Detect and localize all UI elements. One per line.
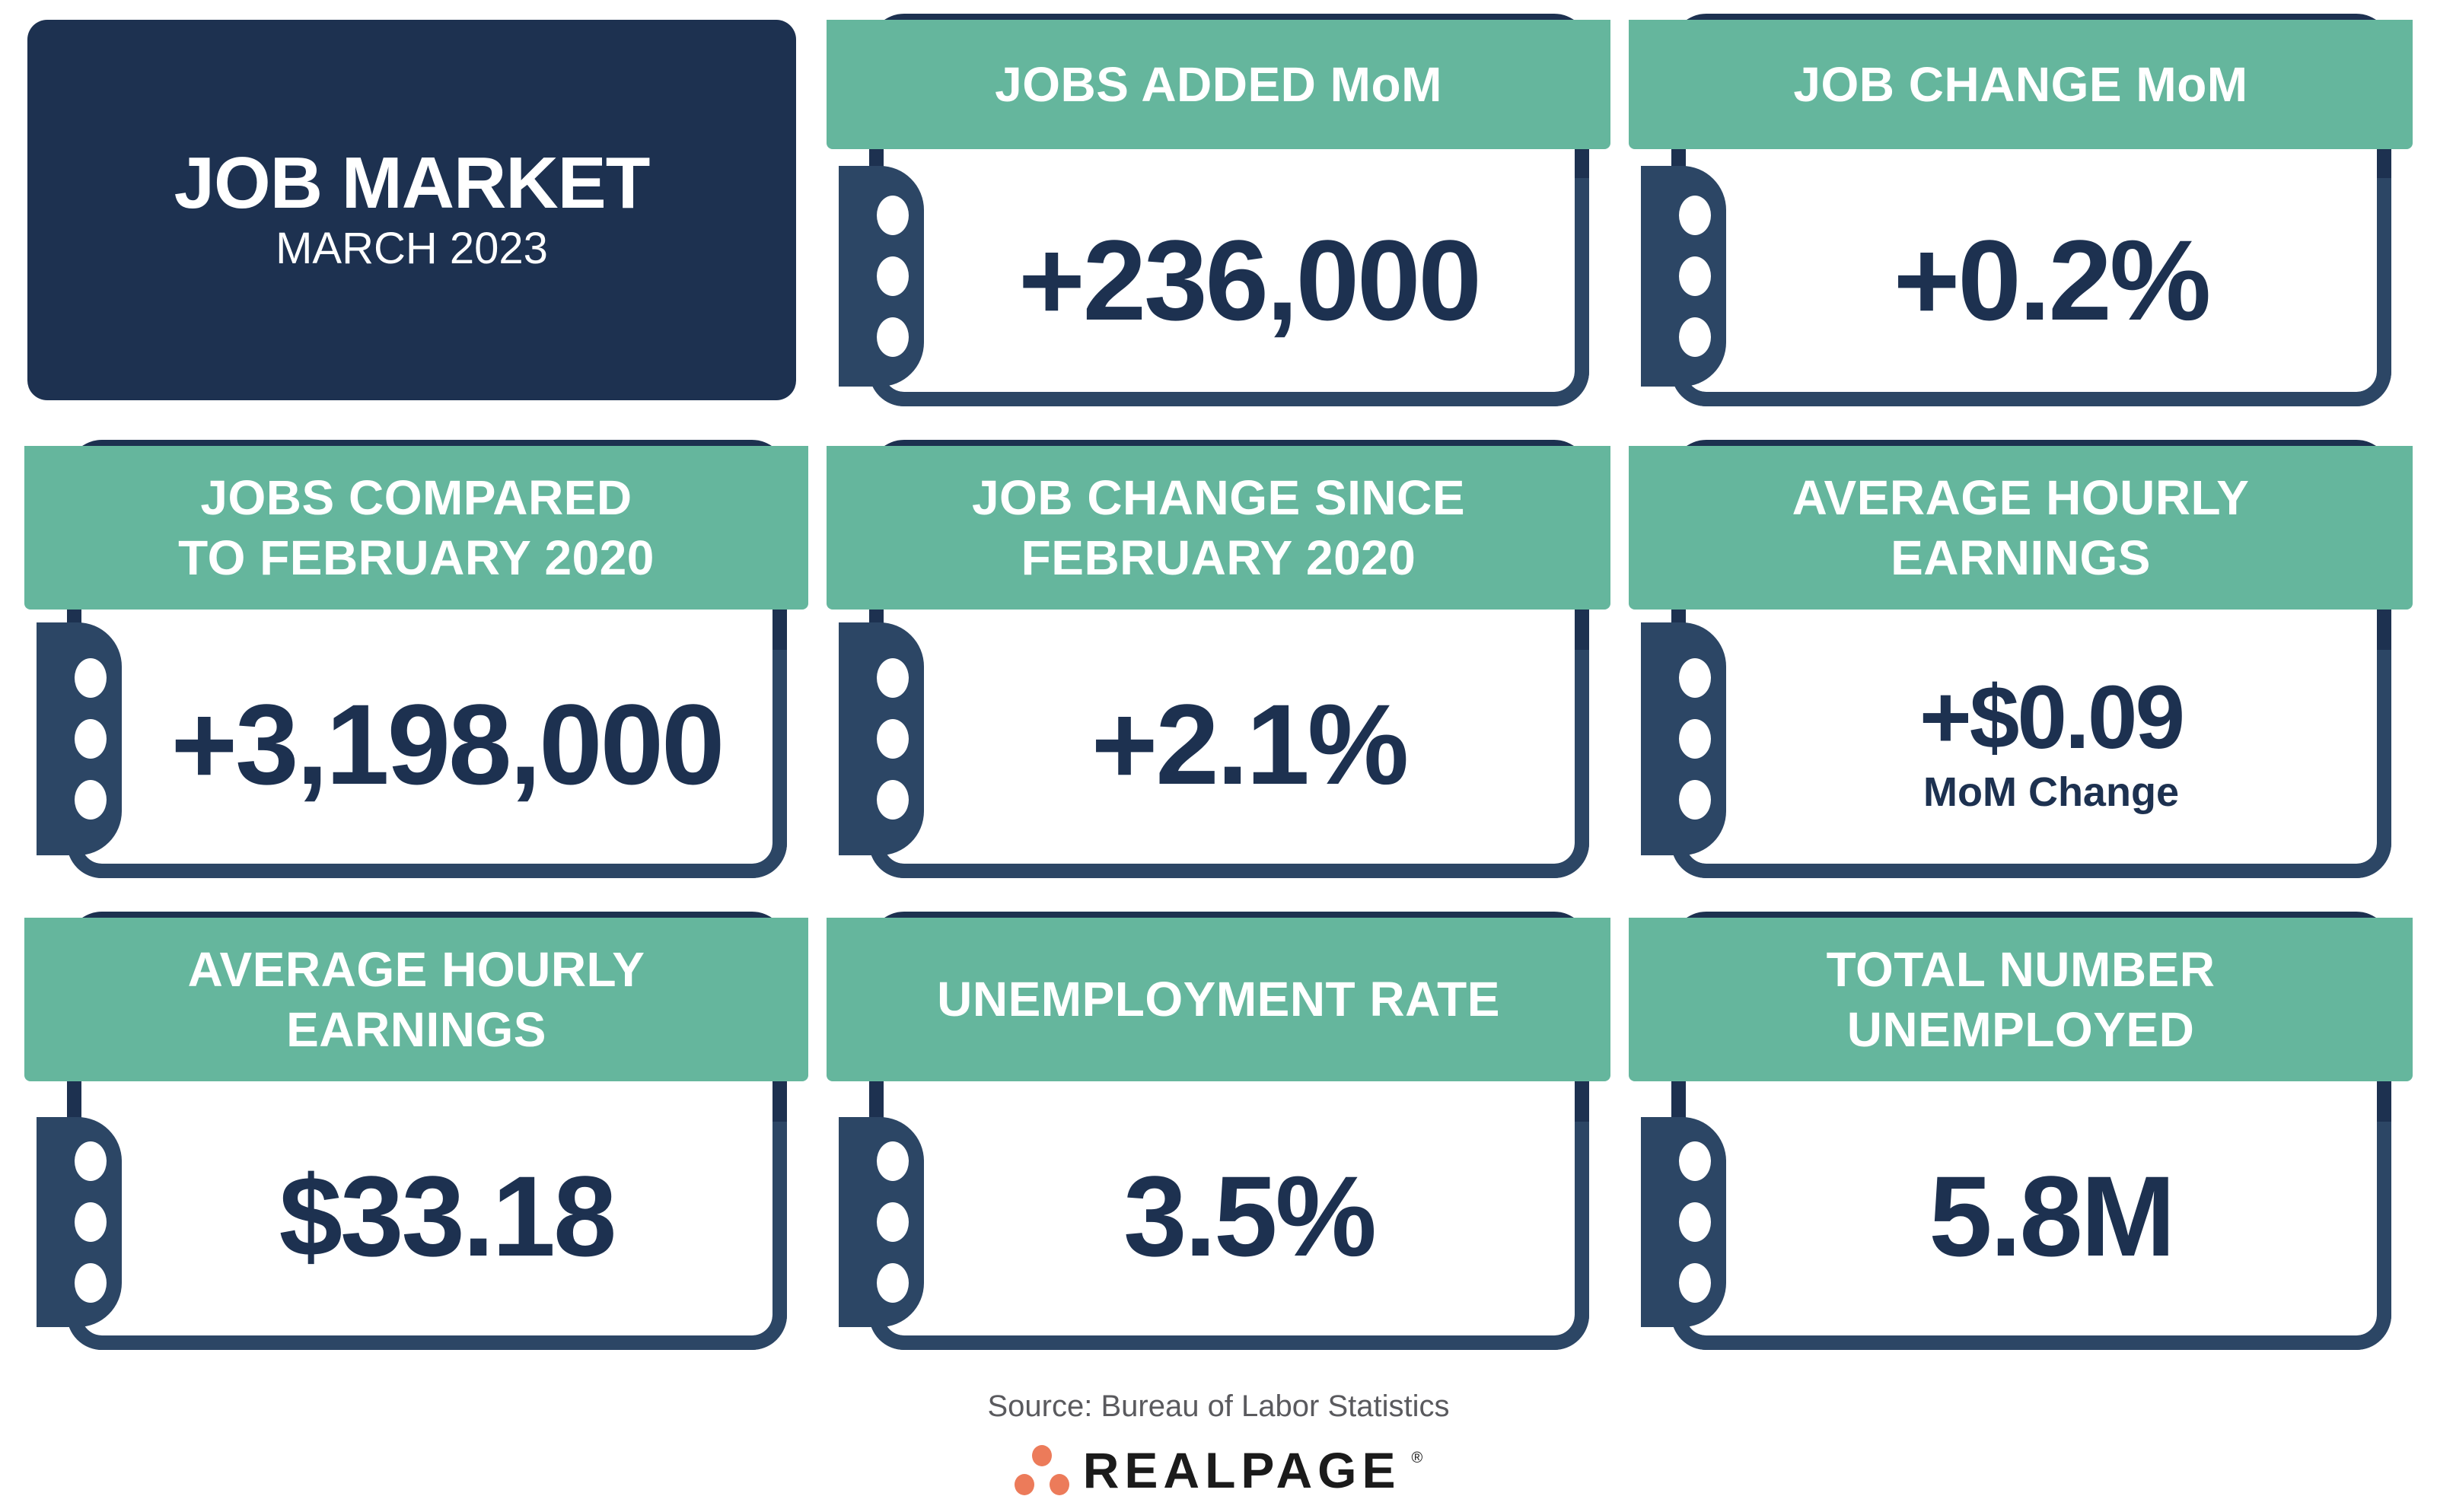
card-value: 3.5% bbox=[1123, 1159, 1375, 1273]
card-header-banner: AVERAGE HOURLY EARNINGS bbox=[24, 918, 808, 1081]
spine-dot-icon bbox=[75, 1263, 107, 1303]
spine-dot-icon bbox=[877, 256, 909, 296]
card-value: +3,198,000 bbox=[171, 687, 723, 801]
card-value-area: +236,000 bbox=[933, 173, 1565, 387]
stat-card-unemployment-rate: UNEMPLOYMENT RATE 3.5% bbox=[827, 904, 1610, 1361]
card-header-banner: JOB CHANGE MoM bbox=[1629, 20, 2413, 149]
card-spine bbox=[1641, 166, 1726, 387]
stat-card-jobs-compared-to-february-2020: JOBS COMPARED TO FEBRUARY 2020 +3,198,00… bbox=[24, 432, 808, 889]
spine-dot-icon bbox=[75, 719, 107, 759]
card-value-area: +2.1% bbox=[933, 630, 1565, 858]
spine-dot-icon bbox=[877, 780, 909, 820]
page-subtitle: MARCH 2023 bbox=[276, 224, 548, 275]
spine-dot-icon bbox=[1679, 1263, 1711, 1303]
card-subvalue: MoM Change bbox=[1923, 770, 2179, 815]
stat-card-job-change-mom: JOB CHANGE MoM +0.2% bbox=[1629, 6, 2413, 417]
card-header-banner: JOBS ADDED MoM bbox=[827, 20, 1610, 149]
card-spine bbox=[37, 622, 122, 855]
spine-dot-icon bbox=[877, 658, 909, 698]
card-header-banner: JOBS COMPARED TO FEBRUARY 2020 bbox=[24, 446, 808, 610]
card-value-area: +0.2% bbox=[1735, 173, 2367, 387]
spine-dot-icon bbox=[877, 317, 909, 357]
spine-dot-icon bbox=[1679, 256, 1711, 296]
card-value-area: +$0.09 MoM Change bbox=[1735, 630, 2367, 858]
card-header-label: JOB CHANGE MoM bbox=[1793, 55, 2247, 114]
realpage-logo: REALPAGE ® bbox=[1015, 1445, 1423, 1495]
realpage-dots-icon bbox=[1015, 1445, 1069, 1495]
spine-dot-icon bbox=[1679, 658, 1711, 698]
card-header-banner: AVERAGE HOURLY EARNINGS bbox=[1629, 446, 2413, 610]
card-value: +236,000 bbox=[1018, 223, 1480, 337]
card-value: +0.2% bbox=[1894, 223, 2209, 337]
card-value-area: +3,198,000 bbox=[131, 630, 763, 858]
stat-card-average-hourly-earnings-mom-change: AVERAGE HOURLY EARNINGS +$0.09 MoM Chang… bbox=[1629, 432, 2413, 889]
stat-card-total-number-unemployed: TOTAL NUMBER UNEMPLOYED 5.8M bbox=[1629, 904, 2413, 1361]
spine-dot-icon bbox=[877, 196, 909, 235]
spine-dot-icon bbox=[877, 1202, 909, 1242]
card-header-banner: UNEMPLOYMENT RATE bbox=[827, 918, 1610, 1081]
spine-dot-icon bbox=[75, 658, 107, 698]
spine-dot-icon bbox=[1679, 317, 1711, 357]
spine-dot-icon bbox=[877, 719, 909, 759]
card-header-label: JOBS ADDED MoM bbox=[995, 55, 1442, 114]
card-spine bbox=[839, 622, 924, 855]
spine-dot-icon bbox=[1679, 780, 1711, 820]
card-spine bbox=[839, 166, 924, 387]
footer: Source: Bureau of Labor Statistics REALP… bbox=[0, 1389, 2437, 1495]
card-header-label: TOTAL NUMBER UNEMPLOYED bbox=[1827, 940, 2216, 1058]
spine-dot-icon bbox=[1679, 719, 1711, 759]
card-value: 5.8M bbox=[1929, 1159, 2173, 1273]
card-spine bbox=[1641, 1117, 1726, 1327]
source-attribution: Source: Bureau of Labor Statistics bbox=[988, 1389, 1450, 1424]
spine-dot-icon bbox=[75, 1141, 107, 1181]
card-header-banner: JOB CHANGE SINCE FEBRUARY 2020 bbox=[827, 446, 1610, 610]
card-header-label: JOB CHANGE SINCE FEBRUARY 2020 bbox=[972, 468, 1465, 587]
card-header-label: UNEMPLOYMENT RATE bbox=[937, 969, 1500, 1029]
spine-dot-icon bbox=[1679, 1202, 1711, 1242]
spine-dot-icon bbox=[877, 1263, 909, 1303]
realpage-wordmark: REALPAGE bbox=[1083, 1445, 1401, 1495]
card-spine bbox=[1641, 622, 1726, 855]
spine-dot-icon bbox=[75, 1202, 107, 1242]
card-header-banner: TOTAL NUMBER UNEMPLOYED bbox=[1629, 918, 2413, 1081]
page-title: JOB MARKET bbox=[174, 146, 650, 221]
card-value-area: 5.8M bbox=[1735, 1102, 2367, 1330]
card-value-area: $33.18 bbox=[131, 1102, 763, 1330]
spine-dot-icon bbox=[877, 1141, 909, 1181]
title-card: JOB MARKET MARCH 2023 bbox=[27, 20, 796, 400]
card-header-label: JOBS COMPARED TO FEBRUARY 2020 bbox=[178, 468, 655, 587]
spine-dot-icon bbox=[75, 780, 107, 820]
card-header-label: AVERAGE HOURLY EARNINGS bbox=[1792, 468, 2250, 587]
logo-dot-icon bbox=[1015, 1474, 1034, 1495]
stat-card-grid: JOB MARKET MARCH 2023 JOBS ADDED MoM +23… bbox=[24, 6, 2413, 1361]
registered-trademark-icon: ® bbox=[1412, 1450, 1423, 1467]
card-spine bbox=[37, 1117, 122, 1327]
logo-dot-icon bbox=[1032, 1445, 1052, 1466]
stat-card-jobs-added-mom: JOBS ADDED MoM +236,000 bbox=[827, 6, 1610, 417]
card-spine bbox=[839, 1117, 924, 1327]
card-value-area: 3.5% bbox=[933, 1102, 1565, 1330]
stat-card-job-change-since-february-2020: JOB CHANGE SINCE FEBRUARY 2020 +2.1% bbox=[827, 432, 1610, 889]
card-value: +2.1% bbox=[1091, 687, 1407, 801]
card-value: $33.18 bbox=[279, 1159, 615, 1273]
stat-card-average-hourly-earnings: AVERAGE HOURLY EARNINGS $33.18 bbox=[24, 904, 808, 1361]
card-header-label: AVERAGE HOURLY EARNINGS bbox=[188, 940, 645, 1058]
spine-dot-icon bbox=[1679, 196, 1711, 235]
card-value: +$0.09 bbox=[1919, 673, 2183, 762]
spine-dot-icon bbox=[1679, 1141, 1711, 1181]
logo-dot-icon bbox=[1050, 1474, 1069, 1495]
